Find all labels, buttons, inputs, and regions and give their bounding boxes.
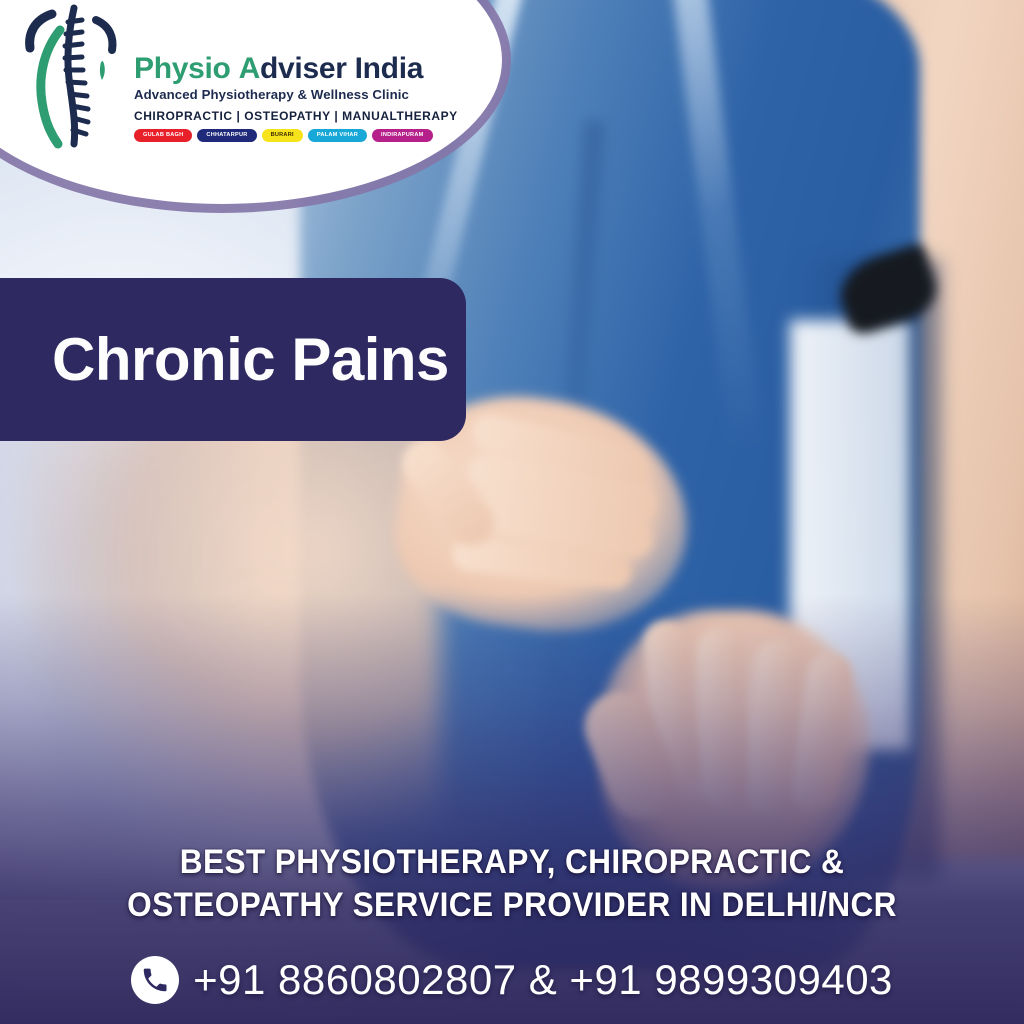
location-badge: PALAM VIHAR [308,129,367,142]
spine-icon [18,4,130,150]
footer-tagline-line1: BEST PHYSIOTHERAPY, CHIROPRACTIC & [36,841,988,885]
logo-oval: Physio Adviser India Advanced Physiother… [0,0,502,204]
poster: Physio Adviser India Advanced Physiother… [0,0,1024,1024]
brand-letter-a: A [239,52,260,85]
headline-title: Chronic Pains [0,330,449,390]
contact-row[interactable]: +91 8860802807 & +91 9899309403 [0,956,1024,1004]
logo-tagline: Advanced Physiotherapy & Wellness Clinic [134,87,458,102]
footer-tagline: BEST PHYSIOTHERAPY, CHIROPRACTIC & OSTEO… [0,841,1024,928]
logo-text-block: Physio Adviser India Advanced Physiother… [130,26,458,142]
footer-tagline-line2: OSTEOPATHY SERVICE PROVIDER IN DELHI/NCR [36,884,988,928]
logo-row: Physio Adviser India Advanced Physiother… [18,26,438,150]
location-badge: BURARI [262,129,303,142]
phone-icon [131,956,179,1004]
logo-block: Physio Adviser India Advanced Physiother… [18,26,438,176]
location-badge: INDIRAPURAM [372,129,433,142]
phone-numbers[interactable]: +91 8860802807 & +91 9899309403 [193,956,893,1004]
location-badge: CHHATARPUR [197,129,256,142]
brand-word-physio: Physio [134,52,231,85]
location-badge: GULAB BAGH [134,129,192,142]
location-badges: GULAB BAGH CHHATARPUR BURARI PALAM VIHAR… [134,129,458,142]
logo-services-line: CHIROPRACTIC | OSTEOPATHY | MANUALTHERAP… [134,109,458,123]
brand-name: Physio Adviser India [134,54,458,84]
brand-word-adviser-india: dviser India [260,52,423,85]
headline-banner: Chronic Pains [0,278,466,441]
